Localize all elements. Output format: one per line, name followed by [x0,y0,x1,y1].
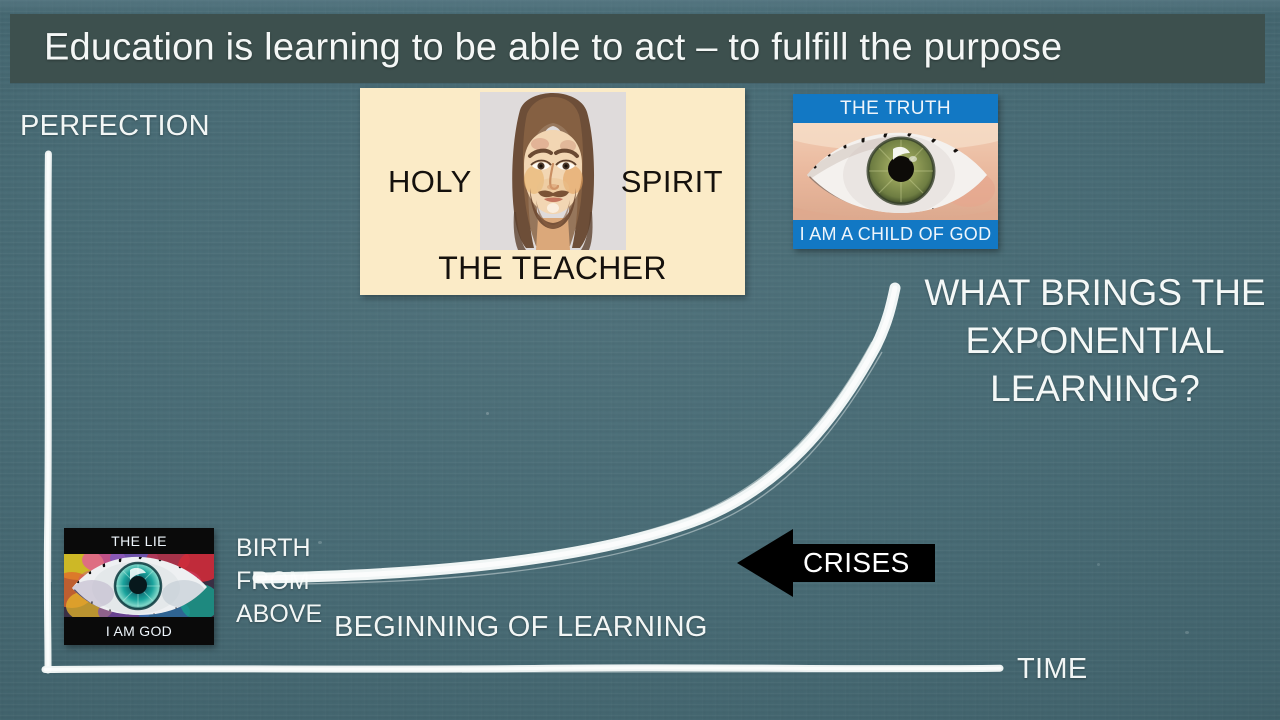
holy-spirit-teacher-card: HOLY SPIRIT THE TEACHER [360,88,745,295]
question-line-2: EXPONENTIAL [915,317,1275,365]
i-am-god-label: I AM GOD [64,617,214,645]
page-title: Education is learning to be able to act … [44,26,1062,69]
title-band: Education is learning to be able to act … [10,14,1265,83]
the-truth-label: THE TRUTH [793,94,998,123]
the-truth-card: THE TRUTH [793,94,998,249]
green-eye-image [793,123,998,220]
spirit-word: SPIRIT [621,164,723,200]
question-line-1: WHAT BRINGS THE [915,269,1275,317]
crises-arrow: CRISES [737,527,935,599]
the-teacher-caption: THE TEACHER [360,250,745,287]
jesus-portrait-image [480,92,626,250]
chalk-speck [1185,631,1189,634]
the-lie-label: THE LIE [64,528,214,554]
birth-from-above-line-3: ABOVE [236,598,308,631]
x-axis-line [42,662,1004,675]
y-axis-label: PERFECTION [20,110,210,143]
chalk-speck [1097,563,1100,566]
crises-label: CRISES [803,527,910,599]
the-lie-card: THE LIE [64,528,214,645]
y-axis-line [42,152,54,672]
beginning-of-learning-label: BEGINNING OF LEARNING [334,611,708,644]
question-callout: WHAT BRINGS THE EXPONENTIAL LEARNING? [915,269,1275,413]
x-axis-label: TIME [1017,653,1087,686]
colorful-eye-image [64,554,214,617]
holy-word: HOLY [388,164,472,200]
slide-canvas: Education is learning to be able to act … [0,0,1280,720]
question-line-3: LEARNING? [915,365,1275,413]
i-am-a-child-of-god-label: I AM A CHILD OF GOD [793,220,998,249]
